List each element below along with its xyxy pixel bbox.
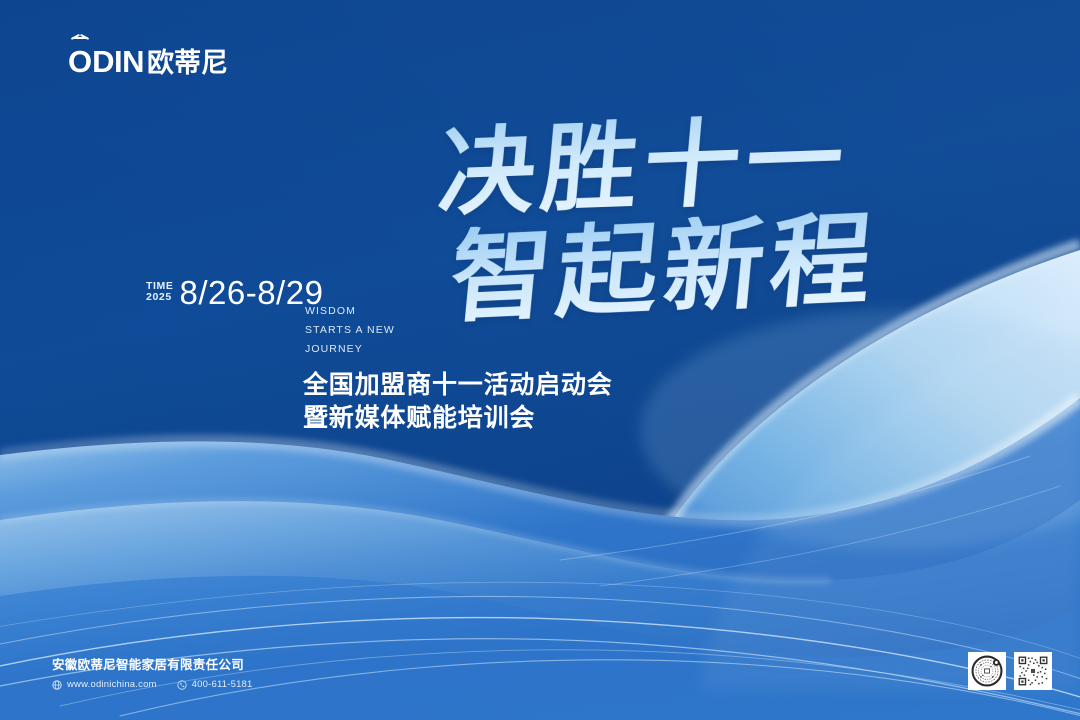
subtitle-line-1: 全国加盟商十一活动启动会 <box>303 368 613 401</box>
footer-info: 安徽欧蒂尼智能家居有限责任公司 www.odinichina.com 400-6… <box>52 659 253 691</box>
logo-chinese-text: 欧蒂尼 <box>147 50 228 77</box>
contact-row: www.odinichina.com 400-611-5181 <box>52 680 253 690</box>
website-contact: www.odinichina.com <box>52 680 157 690</box>
tagline-line-1: WISDOM <box>305 302 395 321</box>
event-date-block: TIME 2025 8/26-8/29 <box>146 276 323 309</box>
qr-code-group <box>968 652 1052 690</box>
event-date-range: 8/26-8/29 <box>179 276 323 309</box>
subtitle-line-2: 暨新媒体赋能培训会 <box>303 401 613 434</box>
wechat-mini-program-qr[interactable] <box>1014 652 1052 690</box>
english-tagline: WISDOM STARTS A NEW JOURNEY <box>305 302 395 359</box>
globe-icon <box>52 680 62 690</box>
square-qr-graphic <box>1016 654 1050 688</box>
phone-text: 400-611-5181 <box>192 680 253 690</box>
phone-contact: 400-611-5181 <box>177 680 253 690</box>
logo-latin-text: DIN <box>92 46 144 77</box>
event-date-label: TIME 2025 <box>146 281 173 305</box>
logo-o-letter: O <box>68 46 92 77</box>
background-artwork <box>0 0 1080 720</box>
brand-logo: O DIN 欧蒂尼 <box>68 46 228 77</box>
tagline-line-2: STARTS A NEW <box>305 321 395 340</box>
circular-qr-graphic <box>970 654 1004 688</box>
date-label-year: 2025 <box>146 292 173 304</box>
event-subtitle: 全国加盟商十一活动启动会 暨新媒体赋能培训会 <box>303 368 613 434</box>
website-text: www.odinichina.com <box>67 680 157 690</box>
logo-circumflex-icon <box>73 37 88 46</box>
phone-icon <box>177 680 187 690</box>
event-poster: O DIN 欧蒂尼 决胜十一 智起新程 TIME 2025 8/26-8/29 … <box>0 0 1080 720</box>
company-name: 安徽欧蒂尼智能家居有限责任公司 <box>52 659 253 672</box>
tagline-line-3: JOURNEY <box>305 340 395 359</box>
wechat-official-account-qr[interactable] <box>968 652 1006 690</box>
